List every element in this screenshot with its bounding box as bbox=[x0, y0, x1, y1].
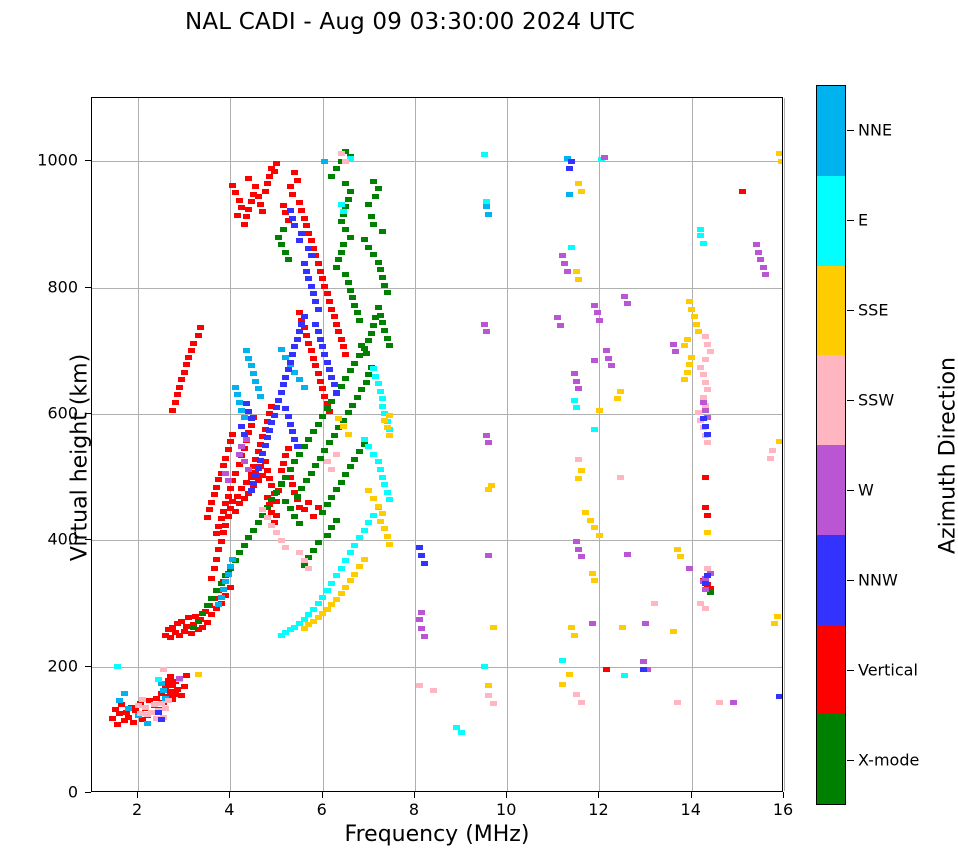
scatter-mark bbox=[125, 706, 132, 711]
scatter-mark bbox=[573, 539, 580, 544]
scatter-mark bbox=[342, 227, 349, 232]
scatter-mark bbox=[285, 367, 292, 372]
scatter-mark bbox=[301, 216, 308, 221]
scatter-mark bbox=[280, 227, 287, 232]
scatter-mark bbox=[264, 515, 271, 520]
scatter-mark bbox=[294, 444, 301, 449]
scatter-mark bbox=[234, 392, 241, 397]
scatter-mark bbox=[591, 578, 598, 583]
scatter-mark bbox=[688, 355, 695, 360]
x-tick-mark bbox=[137, 792, 138, 798]
scatter-mark bbox=[289, 482, 296, 487]
scatter-mark bbox=[211, 492, 218, 497]
scatter-mark bbox=[762, 272, 769, 277]
scatter-mark bbox=[686, 362, 693, 367]
scatter-mark bbox=[238, 424, 245, 429]
scatter-mark bbox=[282, 375, 289, 380]
scatter-mark bbox=[215, 477, 222, 482]
scatter-mark bbox=[702, 505, 709, 510]
scatter-mark bbox=[483, 329, 490, 334]
scatter-mark bbox=[760, 265, 767, 270]
colorbar-tick-label: NNW bbox=[858, 571, 898, 590]
scatter-mark bbox=[693, 322, 700, 327]
scatter-mark bbox=[347, 189, 354, 194]
scatter-mark bbox=[568, 159, 575, 164]
scatter-mark bbox=[596, 533, 603, 538]
scatter-mark bbox=[591, 358, 598, 363]
scatter-mark bbox=[278, 633, 285, 638]
scatter-mark bbox=[351, 361, 358, 366]
scatter-mark bbox=[716, 700, 723, 705]
scatter-mark bbox=[204, 620, 211, 625]
scatter-mark bbox=[379, 229, 386, 234]
scatter-mark bbox=[208, 596, 215, 601]
scatter-mark bbox=[354, 310, 361, 315]
scatter-mark bbox=[121, 691, 128, 696]
y-tick-label: 0 bbox=[68, 783, 78, 802]
scatter-mark bbox=[174, 392, 181, 397]
scatter-mark bbox=[559, 253, 566, 258]
scatter-mark bbox=[317, 379, 324, 384]
scatter-mark bbox=[303, 223, 310, 228]
scatter-mark bbox=[370, 323, 377, 328]
scatter-mark bbox=[691, 314, 698, 319]
scatter-mark bbox=[575, 547, 582, 552]
x-tick-label: 4 bbox=[224, 800, 234, 819]
scatter-mark bbox=[294, 178, 301, 183]
scatter-mark bbox=[204, 603, 211, 608]
scatter-mark bbox=[287, 422, 294, 427]
scatter-mark bbox=[310, 548, 317, 553]
scatter-mark bbox=[305, 437, 312, 442]
scatter-mark bbox=[245, 535, 252, 540]
scatter-mark bbox=[370, 452, 377, 457]
x-tick-mark bbox=[229, 792, 230, 798]
scatter-mark bbox=[282, 475, 289, 480]
scatter-mark bbox=[296, 238, 303, 243]
scatter-mark bbox=[296, 329, 303, 334]
scatter-mark bbox=[421, 561, 428, 566]
scatter-mark bbox=[178, 377, 185, 382]
scatter-mark bbox=[338, 202, 345, 207]
scatter-mark bbox=[250, 371, 257, 376]
scatter-mark bbox=[158, 717, 165, 722]
scatter-mark bbox=[328, 467, 335, 472]
scatter-mark bbox=[296, 550, 303, 555]
scatter-mark bbox=[674, 700, 681, 705]
plot-area bbox=[91, 97, 783, 792]
x-tick-label: 14 bbox=[681, 800, 701, 819]
scatter-mark bbox=[255, 386, 262, 391]
scatter-mark bbox=[704, 432, 711, 437]
scatter-mark bbox=[296, 200, 303, 205]
scatter-mark bbox=[379, 404, 386, 409]
scatter-mark bbox=[328, 525, 335, 530]
colorbar-tick-label: W bbox=[858, 481, 874, 500]
scatter-mark bbox=[418, 553, 425, 558]
colorbar-label: Azimuth Direction bbox=[936, 276, 958, 636]
scatter-mark bbox=[386, 343, 393, 348]
scatter-mark bbox=[700, 400, 707, 405]
scatter-mark bbox=[347, 550, 354, 555]
scatter-mark bbox=[241, 543, 248, 548]
scatter-mark bbox=[365, 444, 372, 449]
scatter-mark bbox=[554, 315, 561, 320]
scatter-mark bbox=[227, 486, 234, 491]
scatter-mark bbox=[370, 366, 377, 371]
scatter-mark bbox=[245, 356, 252, 361]
scatter-mark bbox=[739, 189, 746, 194]
scatter-mark bbox=[333, 452, 340, 457]
scatter-mark bbox=[379, 275, 386, 280]
scatter-mark bbox=[142, 705, 149, 710]
scatter-mark bbox=[264, 435, 271, 440]
scatter-mark bbox=[211, 566, 218, 571]
scatter-mark bbox=[331, 433, 338, 438]
scatter-mark bbox=[206, 507, 213, 512]
scatter-mark bbox=[165, 698, 172, 703]
scatter-mark bbox=[485, 553, 492, 558]
scatter-mark bbox=[303, 333, 310, 338]
scatter-mark bbox=[305, 246, 312, 251]
scatter-mark bbox=[370, 496, 377, 501]
scatter-mark bbox=[181, 684, 188, 689]
scatter-mark bbox=[227, 564, 234, 569]
scatter-mark bbox=[416, 683, 423, 688]
colorbar-tick-label: NNE bbox=[858, 121, 892, 140]
colorbar-tick-label: X-mode bbox=[858, 751, 919, 770]
x-tick-mark bbox=[691, 792, 692, 798]
scatter-mark bbox=[377, 519, 384, 524]
scatter-mark bbox=[700, 416, 707, 421]
scatter-mark bbox=[342, 376, 349, 381]
scatter-mark bbox=[204, 515, 211, 520]
scatter-mark bbox=[481, 152, 488, 157]
scatter-mark bbox=[215, 547, 222, 552]
scatter-mark bbox=[361, 528, 368, 533]
scatter-mark bbox=[273, 405, 280, 410]
scatter-mark bbox=[624, 301, 631, 306]
scatter-mark bbox=[379, 320, 386, 325]
scatter-mark bbox=[342, 181, 349, 186]
scatter-mark bbox=[347, 464, 354, 469]
scatter-mark bbox=[358, 387, 365, 392]
scatter-mark bbox=[308, 471, 315, 476]
colorbar-segment bbox=[817, 266, 845, 356]
scatter-mark bbox=[697, 233, 704, 238]
scatter-mark bbox=[241, 459, 248, 464]
scatter-mark bbox=[271, 413, 278, 418]
scatter-mark bbox=[485, 683, 492, 688]
scatter-mark bbox=[700, 241, 707, 246]
scatter-mark bbox=[335, 416, 342, 421]
scatter-mark bbox=[571, 633, 578, 638]
scatter-mark bbox=[619, 625, 626, 630]
scatter-mark bbox=[287, 360, 294, 365]
scatter-mark bbox=[266, 476, 273, 481]
scatter-mark bbox=[139, 697, 146, 702]
scatter-mark bbox=[172, 400, 179, 405]
scatter-mark bbox=[368, 214, 375, 219]
scatter-mark bbox=[582, 510, 589, 515]
scatter-mark bbox=[227, 585, 234, 590]
scatter-mark bbox=[363, 380, 370, 385]
x-tick-mark bbox=[322, 792, 323, 798]
scatter-mark bbox=[704, 342, 711, 347]
scatter-mark bbox=[213, 531, 220, 536]
scatter-mark bbox=[335, 329, 342, 334]
scatter-mark bbox=[291, 437, 298, 442]
scatter-mark bbox=[356, 318, 363, 323]
scatter-mark bbox=[368, 331, 375, 336]
x-tick-label: 10 bbox=[496, 800, 516, 819]
scatter-mark bbox=[190, 625, 197, 630]
scatter-mark bbox=[298, 208, 305, 213]
scatter-mark bbox=[278, 390, 285, 395]
scatter-mark bbox=[155, 677, 162, 682]
scatter-mark bbox=[381, 482, 388, 487]
scatter-mark bbox=[704, 440, 711, 445]
scatter-mark bbox=[702, 408, 709, 413]
scatter-mark bbox=[681, 377, 688, 382]
scatter-mark bbox=[275, 235, 282, 240]
scatter-mark bbox=[315, 601, 322, 606]
scatter-mark bbox=[114, 664, 121, 669]
scatter-mark bbox=[559, 658, 566, 663]
x-tick-label: 2 bbox=[132, 800, 142, 819]
scatter-mark bbox=[243, 214, 250, 219]
scatter-mark bbox=[289, 216, 296, 221]
scatter-mark bbox=[603, 667, 610, 672]
scatter-mark bbox=[301, 507, 308, 512]
scatter-mark bbox=[195, 619, 202, 624]
scatter-mark bbox=[365, 488, 372, 493]
scatter-mark bbox=[301, 444, 308, 449]
scatter-mark bbox=[291, 223, 298, 228]
scatter-mark bbox=[617, 389, 624, 394]
scatter-mark bbox=[257, 458, 264, 463]
scatter-mark bbox=[589, 621, 596, 626]
scatter-mark bbox=[222, 471, 229, 476]
scatter-mark bbox=[328, 581, 335, 586]
gridline-vertical bbox=[784, 98, 785, 791]
scatter-mark bbox=[365, 520, 372, 525]
scatter-mark bbox=[317, 337, 324, 342]
scatter-mark bbox=[259, 507, 266, 512]
scatter-mark bbox=[347, 578, 354, 583]
scatter-mark bbox=[651, 601, 658, 606]
scatter-mark bbox=[305, 231, 312, 236]
scatter-mark bbox=[255, 520, 262, 525]
scatter-mark bbox=[197, 325, 204, 330]
scatter-mark bbox=[248, 416, 255, 421]
scatter-mark bbox=[670, 629, 677, 634]
scatter-mark bbox=[485, 693, 492, 698]
y-axis-label: Virtual height (km) bbox=[68, 258, 93, 658]
scatter-mark bbox=[305, 500, 312, 505]
scatter-mark bbox=[287, 506, 294, 511]
scatter-mark bbox=[319, 510, 326, 515]
scatter-mark bbox=[225, 514, 232, 519]
scatter-mark bbox=[697, 365, 704, 370]
scatter-mark bbox=[232, 471, 239, 476]
scatter-mark bbox=[386, 542, 393, 547]
scatter-mark bbox=[176, 676, 183, 681]
scatter-mark bbox=[266, 174, 273, 179]
colorbar-tick-mark bbox=[847, 400, 854, 401]
scatter-mark bbox=[303, 478, 310, 483]
scatter-mark bbox=[338, 480, 345, 485]
scatter-mark bbox=[285, 446, 292, 451]
scatter-mark bbox=[704, 387, 711, 392]
scatter-mark bbox=[268, 420, 275, 425]
y-tick-label: 1000 bbox=[37, 151, 78, 170]
x-tick-mark bbox=[414, 792, 415, 798]
scatter-points bbox=[92, 98, 782, 791]
scatter-mark bbox=[264, 468, 271, 473]
scatter-mark bbox=[338, 566, 345, 571]
scatter-mark bbox=[222, 579, 229, 584]
scatter-mark bbox=[326, 440, 333, 445]
scatter-mark bbox=[321, 352, 328, 357]
scatter-mark bbox=[702, 581, 709, 586]
colorbar-tick-label: SSE bbox=[858, 301, 888, 320]
scatter-mark bbox=[603, 348, 610, 353]
scatter-mark bbox=[338, 219, 345, 224]
scatter-mark bbox=[672, 349, 679, 354]
scatter-mark bbox=[324, 533, 331, 538]
scatter-mark bbox=[571, 371, 578, 376]
scatter-mark bbox=[418, 626, 425, 631]
scatter-mark bbox=[377, 267, 384, 272]
scatter-mark bbox=[144, 721, 151, 726]
scatter-mark bbox=[345, 197, 352, 202]
scatter-mark bbox=[215, 524, 222, 529]
scatter-mark bbox=[370, 179, 377, 184]
scatter-mark bbox=[730, 700, 737, 705]
scatter-mark bbox=[301, 314, 308, 319]
scatter-mark bbox=[312, 363, 319, 368]
scatter-mark bbox=[704, 573, 711, 578]
scatter-mark bbox=[282, 406, 289, 411]
scatter-mark bbox=[188, 348, 195, 353]
scatter-mark bbox=[377, 313, 384, 318]
scatter-mark bbox=[308, 238, 315, 243]
scatter-mark bbox=[278, 347, 285, 352]
scatter-mark bbox=[291, 459, 298, 464]
scatter-mark bbox=[333, 518, 340, 523]
scatter-mark bbox=[340, 209, 347, 214]
scatter-mark bbox=[215, 602, 222, 607]
scatter-mark bbox=[308, 348, 315, 353]
scatter-mark bbox=[776, 439, 782, 444]
scatter-mark bbox=[236, 452, 243, 457]
scatter-mark bbox=[381, 328, 388, 333]
scatter-mark bbox=[315, 261, 322, 266]
scatter-mark bbox=[294, 494, 301, 499]
scatter-mark bbox=[621, 673, 628, 678]
scatter-mark bbox=[338, 250, 345, 255]
scatter-mark bbox=[573, 405, 580, 410]
scatter-mark bbox=[280, 461, 287, 466]
scatter-mark bbox=[386, 413, 393, 418]
colorbar-tick-mark bbox=[847, 580, 854, 581]
colorbar bbox=[816, 85, 846, 805]
scatter-mark bbox=[778, 159, 782, 164]
y-tick-mark bbox=[85, 792, 91, 793]
scatter-mark bbox=[287, 184, 294, 189]
colorbar-tick-mark bbox=[847, 760, 854, 761]
scatter-mark bbox=[361, 237, 368, 242]
scatter-mark bbox=[342, 472, 349, 477]
scatter-mark bbox=[291, 344, 298, 349]
scatter-mark bbox=[365, 202, 372, 207]
scatter-mark bbox=[273, 490, 280, 495]
scatter-mark bbox=[702, 606, 709, 611]
scatter-mark bbox=[338, 384, 345, 389]
scatter-mark bbox=[386, 433, 393, 438]
scatter-mark bbox=[328, 495, 335, 500]
scatter-mark bbox=[704, 513, 711, 518]
scatter-mark bbox=[700, 372, 707, 377]
scatter-mark bbox=[278, 468, 285, 473]
scatter-mark bbox=[379, 475, 386, 480]
scatter-mark bbox=[321, 448, 328, 453]
scatter-mark bbox=[238, 444, 245, 449]
scatter-mark bbox=[370, 252, 377, 257]
scatter-mark bbox=[702, 475, 709, 480]
scatter-mark bbox=[351, 303, 358, 308]
scatter-mark bbox=[365, 245, 372, 250]
scatter-mark bbox=[208, 612, 215, 617]
colorbar-tick-label: Vertical bbox=[858, 661, 918, 680]
scatter-mark bbox=[109, 716, 116, 721]
scatter-mark bbox=[566, 166, 573, 171]
scatter-mark bbox=[225, 494, 232, 499]
scatter-mark bbox=[291, 370, 298, 375]
scatter-mark bbox=[259, 209, 266, 214]
scatter-mark bbox=[384, 534, 391, 539]
scatter-mark bbox=[608, 363, 615, 368]
scatter-mark bbox=[243, 437, 250, 442]
scatter-mark bbox=[236, 550, 243, 555]
scatter-mark bbox=[349, 295, 356, 300]
scatter-mark bbox=[234, 213, 241, 218]
scatter-mark bbox=[222, 456, 229, 461]
scatter-mark bbox=[280, 382, 287, 387]
scatter-mark bbox=[776, 151, 782, 156]
scatter-mark bbox=[264, 181, 271, 186]
scatter-mark bbox=[181, 370, 188, 375]
scatter-mark bbox=[614, 396, 621, 401]
scatter-mark bbox=[361, 437, 368, 442]
scatter-mark bbox=[220, 530, 227, 535]
scatter-mark bbox=[707, 349, 714, 354]
scatter-mark bbox=[573, 692, 580, 697]
scatter-mark bbox=[218, 539, 225, 544]
scatter-mark bbox=[347, 368, 354, 373]
scatter-mark bbox=[686, 299, 693, 304]
scatter-mark bbox=[213, 485, 220, 490]
scatter-mark bbox=[757, 257, 764, 262]
scatter-mark bbox=[315, 307, 322, 312]
scatter-mark bbox=[271, 169, 278, 174]
scatter-mark bbox=[702, 587, 709, 592]
scatter-mark bbox=[183, 673, 190, 678]
x-axis-label: Frequency (MHz) bbox=[91, 822, 783, 847]
scatter-mark bbox=[681, 343, 688, 348]
scatter-mark bbox=[333, 487, 340, 492]
